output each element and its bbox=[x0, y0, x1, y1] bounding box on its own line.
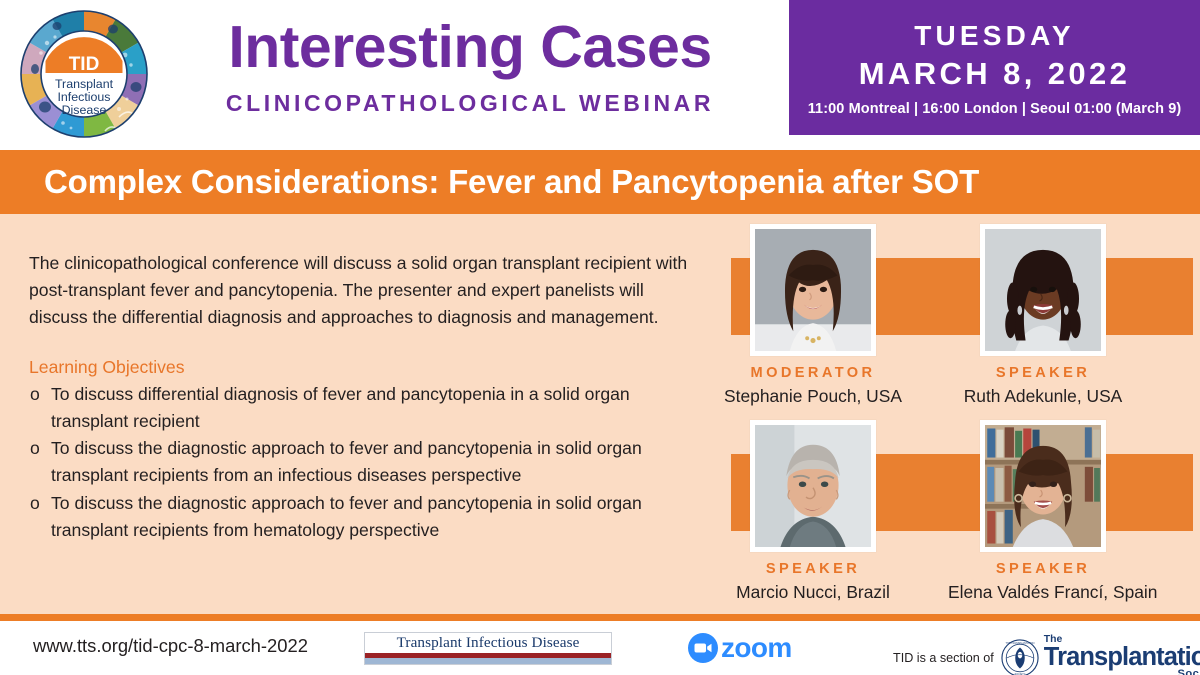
page-subtitle: CLINICOPATHOLOGICAL WEBINAR bbox=[160, 90, 780, 117]
photo-frame bbox=[980, 224, 1106, 356]
speaker-role: SPEAKER bbox=[948, 561, 1138, 577]
date-weekday: TUESDAY bbox=[789, 19, 1200, 53]
tts-seal-icon: THE TRANSPLANTATION SOCIETY bbox=[1001, 639, 1039, 675]
tts-main-text: Transplantation bbox=[1044, 645, 1200, 670]
poster-footer: www.tts.org/tid-cpc-8-march-2022 Transpl… bbox=[0, 621, 1200, 675]
tid-logo-line1: Transplant bbox=[55, 77, 114, 91]
description-text: The clinicopathological conference will … bbox=[29, 250, 689, 331]
registration-url[interactable]: www.tts.org/tid-cpc-8-march-2022 bbox=[33, 635, 308, 657]
tid-logo-line3: Disease bbox=[62, 103, 107, 117]
bullet-marker: o bbox=[29, 435, 51, 488]
speaker-name: Elena Valdés Francí, Spain bbox=[948, 582, 1138, 603]
photo-frame bbox=[750, 420, 876, 552]
bullet-marker: o bbox=[29, 381, 51, 434]
tts-wordmark: The Transplantation Society bbox=[1044, 635, 1200, 675]
photo-ruth-adekunle bbox=[985, 229, 1101, 351]
photo-marcio-nucci bbox=[755, 425, 871, 547]
webinar-poster: TID Transplant Infectious Disease Intere… bbox=[0, 0, 1200, 675]
date-panel: TUESDAY MARCH 8, 2022 11:00 Montreal | 1… bbox=[789, 0, 1200, 135]
objective-text: To discuss the diagnostic approach to fe… bbox=[51, 490, 689, 543]
photo-frame bbox=[750, 224, 876, 356]
list-item: o To discuss the diagnostic approach to … bbox=[29, 435, 689, 488]
title-block: Interesting Cases CLINICOPATHOLOGICAL WE… bbox=[160, 16, 780, 117]
svg-text:THE TRANSPLANTATION: THE TRANSPLANTATION bbox=[1005, 642, 1034, 645]
objective-text: To discuss differential diagnosis of fev… bbox=[51, 381, 689, 434]
journal-logo-blue-bar bbox=[365, 658, 611, 664]
photo-stephanie-pouch bbox=[755, 229, 871, 351]
date-full: MARCH 8, 2022 bbox=[789, 55, 1200, 92]
zoom-wordmark: zoom bbox=[721, 634, 792, 662]
tts-logo-lockup: TID is a section of THE TRANSPLANTATION … bbox=[893, 635, 1200, 675]
speaker-role: SPEAKER bbox=[948, 365, 1138, 381]
date-timezones: 11:00 Montreal | 16:00 London | Seoul 01… bbox=[789, 101, 1200, 117]
speaker-role: MODERATOR bbox=[718, 365, 908, 381]
bullet-marker: o bbox=[29, 490, 51, 543]
poster-body: The clinicopathological conference will … bbox=[0, 214, 1200, 614]
speaker-name: Stephanie Pouch, USA bbox=[718, 386, 908, 407]
speaker-card: SPEAKER Marcio Nucci, Brazil bbox=[718, 420, 908, 603]
speaker-grid: MODERATOR Stephanie Pouch, USA bbox=[700, 214, 1200, 614]
zoom-camera-icon bbox=[688, 633, 718, 663]
photo-elena-valdes-franci bbox=[985, 425, 1101, 547]
speaker-name: Ruth Adekunle, USA bbox=[948, 386, 1138, 407]
list-item: o To discuss the diagnostic approach to … bbox=[29, 490, 689, 543]
speaker-name: Marcio Nucci, Brazil bbox=[718, 582, 908, 603]
session-title-bar: Complex Considerations: Fever and Pancyt… bbox=[0, 150, 1200, 214]
speaker-card: MODERATOR Stephanie Pouch, USA bbox=[718, 224, 908, 407]
content-column: The clinicopathological conference will … bbox=[29, 250, 689, 543]
objective-text: To discuss the diagnostic approach to fe… bbox=[51, 435, 689, 488]
poster-header: TID Transplant Infectious Disease Intere… bbox=[0, 0, 1200, 150]
page-title: Interesting Cases bbox=[160, 16, 780, 79]
session-title: Complex Considerations: Fever and Pancyt… bbox=[44, 163, 979, 201]
journal-logo: Transplant Infectious Disease bbox=[364, 632, 612, 665]
tid-logo-line2: Infectious bbox=[57, 90, 110, 104]
list-item: o To discuss differential diagnosis of f… bbox=[29, 381, 689, 434]
journal-logo-text: Transplant Infectious Disease bbox=[365, 633, 611, 653]
objectives-heading: Learning Objectives bbox=[29, 355, 689, 380]
tid-circular-logo: TID Transplant Infectious Disease bbox=[19, 9, 149, 139]
tid-logo-acronym: TID bbox=[69, 54, 100, 75]
photo-frame bbox=[980, 420, 1106, 552]
orange-divider bbox=[0, 614, 1200, 621]
zoom-logo: zoom bbox=[688, 633, 792, 663]
speaker-role: SPEAKER bbox=[718, 561, 908, 577]
speaker-card: SPEAKER Elena Valdés Francí, Spain bbox=[948, 420, 1138, 603]
tts-prefix-text: TID is a section of bbox=[893, 651, 994, 665]
speaker-card: SPEAKER Ruth Adekunle, USA bbox=[948, 224, 1138, 407]
